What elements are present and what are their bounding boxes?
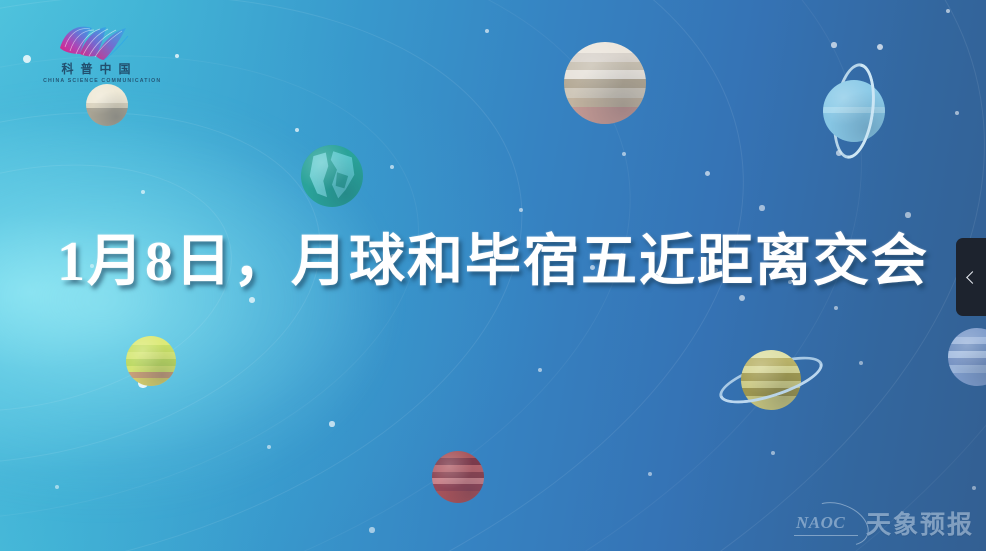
- star-dot: [836, 150, 842, 156]
- star-dot: [759, 205, 764, 210]
- title-card-canvas: 科普中国 CHINA SCIENCE COMMUNICATION 1月8日，月球…: [0, 0, 986, 551]
- star-dot: [905, 212, 910, 217]
- chevron-left-icon: [966, 271, 979, 284]
- planet-earth-teal-body: [301, 145, 363, 207]
- star-dot: [485, 29, 489, 33]
- planet-maroon-rose: [432, 451, 484, 503]
- planet-shading: [741, 350, 801, 410]
- star-dot: [648, 472, 652, 476]
- arc-icon: [803, 494, 875, 551]
- naoc-watermark: NAOC 天象预报: [794, 503, 974, 543]
- planet-saturn-olive-body: [741, 350, 801, 410]
- brand-logo: 科普中国 CHINA SCIENCE COMMUNICATION: [42, 24, 150, 90]
- star-dot: [972, 486, 976, 490]
- star-dot: [141, 190, 145, 194]
- star-dot: [946, 9, 950, 13]
- collapse-sidebar-button[interactable]: [956, 238, 986, 316]
- star-dot: [295, 128, 299, 132]
- star-dot: [955, 111, 960, 116]
- star-dot: [859, 361, 863, 365]
- watermark-cn-text: 天象预报: [866, 505, 974, 541]
- naoc-text: NAOC: [796, 513, 845, 533]
- planet-earth-teal: [301, 145, 363, 207]
- planet-uranus-ringed: [823, 80, 885, 142]
- planet-blue-grey-edge: [948, 328, 986, 386]
- planet-cream-grey-body: [86, 84, 128, 126]
- planet-jupiter-banded: [564, 42, 646, 124]
- planet-maroon-rose-body: [432, 451, 484, 503]
- star-dot: [705, 171, 710, 176]
- star-dot: [739, 295, 745, 301]
- page-title: 1月8日，月球和毕宿五近距离交会: [0, 230, 986, 294]
- planet-shading: [823, 80, 885, 142]
- planet-shading: [126, 336, 176, 386]
- planet-shading: [86, 84, 128, 126]
- star-dot: [369, 527, 374, 532]
- star-dot: [55, 485, 59, 489]
- planet-cream-grey: [86, 84, 128, 126]
- planet-saturn-olive: [741, 350, 801, 410]
- logo-en-text: CHINA SCIENCE COMMUNICATION: [42, 78, 150, 84]
- star-dot: [23, 55, 31, 63]
- star-dot: [175, 54, 180, 59]
- star-dot: [538, 368, 542, 372]
- star-dot: [831, 42, 836, 47]
- star-dot: [329, 421, 334, 426]
- planet-jupiter-banded-body: [564, 42, 646, 124]
- star-dot: [622, 152, 626, 156]
- naoc-logo: NAOC: [794, 506, 862, 540]
- planet-shading: [564, 42, 646, 124]
- star-dot: [249, 297, 255, 303]
- planet-blue-grey-edge-body: [948, 328, 986, 386]
- star-dot: [877, 44, 883, 50]
- naoc-underline: [794, 535, 858, 536]
- star-dot: [390, 165, 395, 170]
- planet-uranus-ringed-body: [823, 80, 885, 142]
- star-dot: [771, 451, 775, 455]
- planet-shading: [301, 145, 363, 207]
- planet-shading: [432, 451, 484, 503]
- logo-cn-text: 科普中国: [42, 62, 150, 76]
- star-dot: [834, 306, 839, 311]
- star-dot: [519, 208, 524, 213]
- planet-yellow-green-body: [126, 336, 176, 386]
- star-dot: [267, 445, 271, 449]
- planet-yellow-green: [126, 336, 176, 386]
- ribbon-logo-icon: [56, 24, 134, 64]
